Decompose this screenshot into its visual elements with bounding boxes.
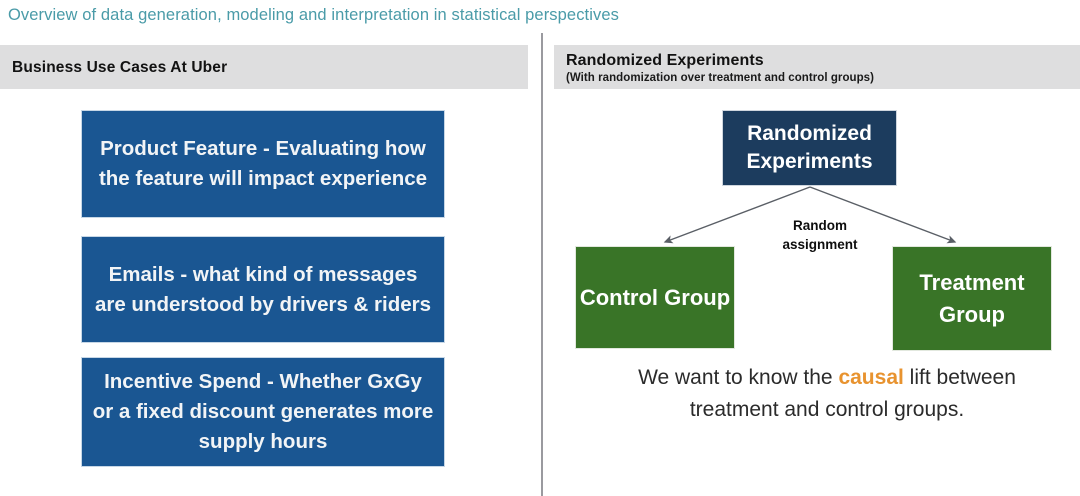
edge-label-random-assignment: Random assignment (760, 216, 880, 254)
diagram-caption: We want to know the causal lift between … (592, 362, 1062, 426)
use-case-card: Product Feature - Evaluating how the fea… (81, 110, 445, 218)
use-case-card: Emails - what kind of messages are under… (81, 236, 445, 343)
caption-accent-word: causal (838, 366, 903, 389)
right-panel-title: Randomized Experiments (566, 52, 764, 70)
left-panel-title: Business Use Cases At Uber (12, 59, 227, 77)
node-control-group: Control Group (575, 246, 735, 349)
use-case-card: Incentive Spend - Whether GxGy or a fixe… (81, 357, 445, 467)
left-panel: Business Use Cases At Uber Product Featu… (0, 0, 541, 496)
node-treatment-group: Treatment Group (892, 246, 1052, 351)
right-panel-subtitle: (With randomization over treatment and c… (566, 72, 874, 84)
caption-text-before: We want to know the (638, 366, 838, 389)
node-randomized-experiments: Randomized Experiments (722, 110, 897, 186)
